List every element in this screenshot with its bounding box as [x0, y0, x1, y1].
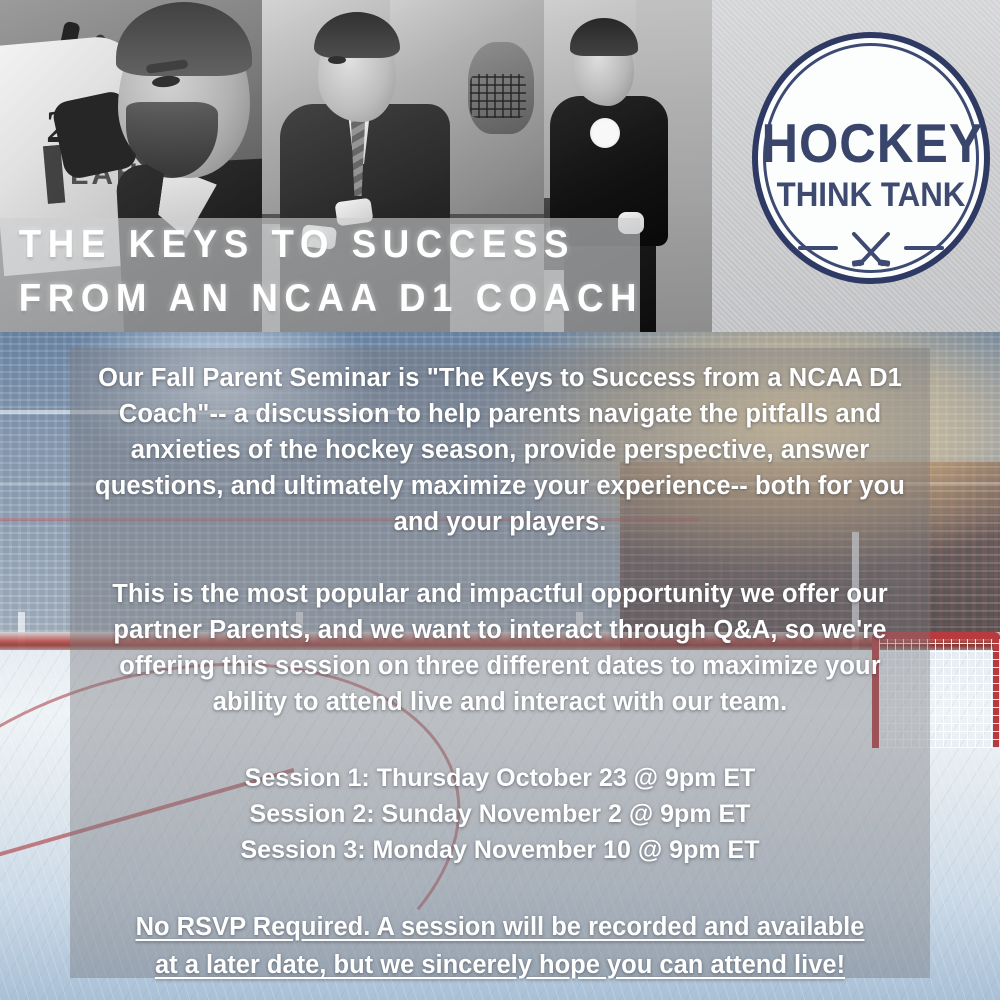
logo-line-2: THINK TANK	[762, 178, 981, 212]
title-line-1: THE KEYS TO SUCCESS	[19, 218, 621, 272]
rsvp-note-line-2: at a later date, but we sincerely hope y…	[92, 946, 908, 984]
session-list: Session 1: Thursday October 23 @ 9pm ET …	[92, 760, 908, 868]
rsvp-note-line-1: No RSVP Required. A session will be reco…	[92, 908, 908, 946]
seminar-poster: 2 LAH	[0, 0, 1000, 1000]
logo-line-1: HOCKEY	[762, 116, 981, 171]
page-title: THE KEYS TO SUCCESS FROM AN NCAA D1 COAC…	[0, 218, 620, 332]
paragraph-2: This is the most popular and impactful o…	[92, 576, 908, 720]
session-item-1: Session 1: Thursday October 23 @ 9pm ET	[92, 760, 908, 796]
seminar-copy: Our Fall Parent Seminar is "The Keys to …	[70, 348, 930, 978]
rsvp-note: No RSVP Required. A session will be reco…	[92, 908, 908, 984]
coach-hair	[570, 18, 638, 56]
crossed-hockey-sticks-icon	[796, 228, 946, 272]
helmet-cage	[470, 74, 526, 118]
jacket-badge	[590, 118, 620, 148]
title-line-2: FROM AN NCAA D1 COACH	[19, 272, 621, 326]
coach-hair	[314, 12, 400, 58]
session-item-3: Session 3: Monday November 10 @ 9pm ET	[92, 832, 908, 868]
coach-eye	[328, 56, 346, 64]
paragraph-1: Our Fall Parent Seminar is "The Keys to …	[92, 360, 908, 540]
hockey-think-tank-logo: HOCKEY THINK TANK	[752, 32, 990, 284]
session-item-2: Session 2: Sunday November 2 @ 9pm ET	[92, 796, 908, 832]
header-banner: 2 LAH	[0, 0, 1000, 332]
